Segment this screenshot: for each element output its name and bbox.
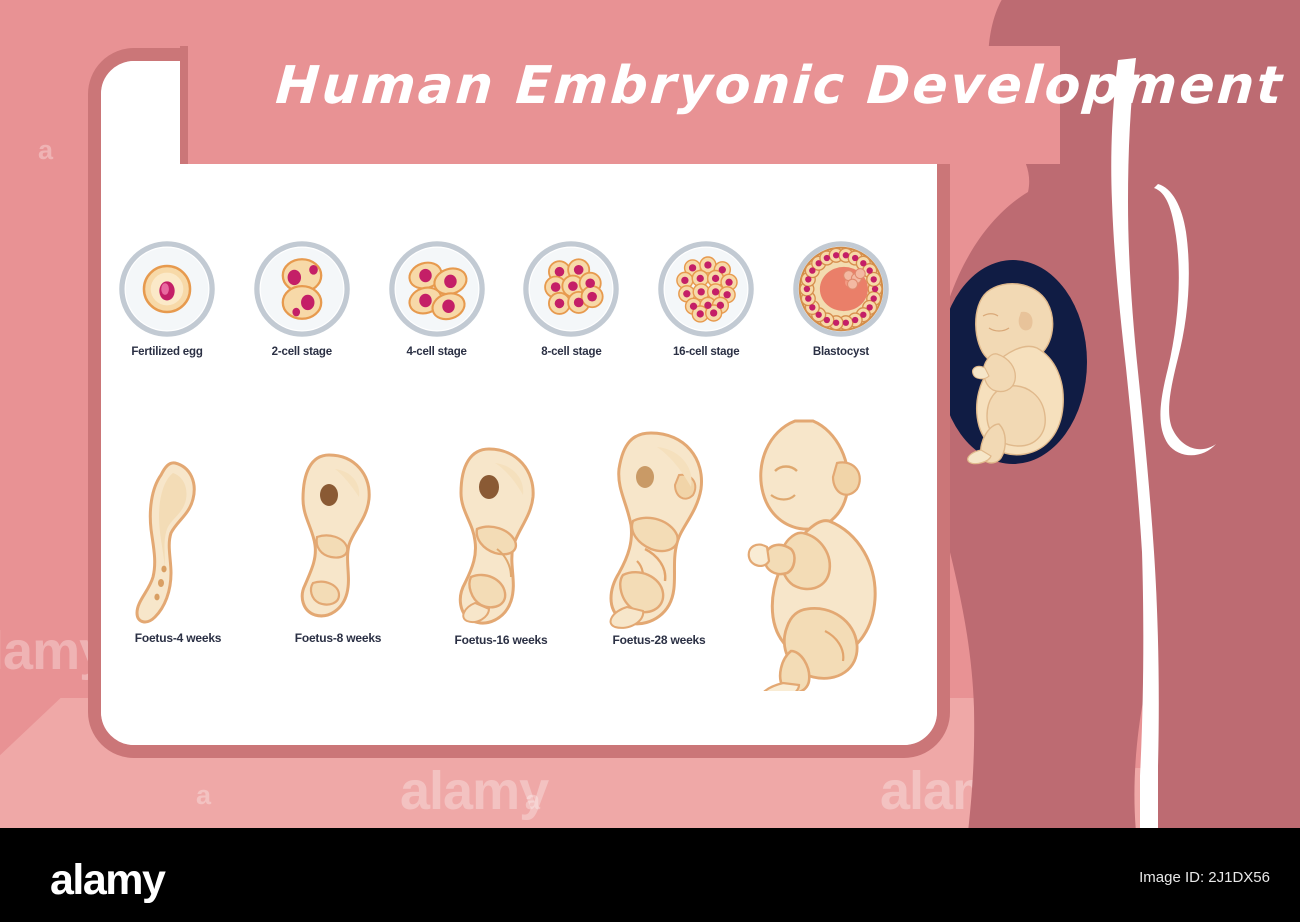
alamy-footer-bar: alamy Image ID: 2J1DX56 — [0, 828, 1300, 922]
cell-stage-label: 8-cell stage — [541, 346, 601, 358]
fetus-stage-label: Foetus-8 weeks — [295, 631, 382, 645]
fetus-stage-label: Foetus-28 weeks — [612, 633, 705, 647]
two-cell-icon — [254, 241, 350, 337]
cell-stages-row: Fertilized egg2-cell stage4-cell stage8-… — [109, 241, 899, 358]
cell-stage-label: Blastocyst — [813, 346, 869, 358]
image-id-text: Image ID: 2J1DX56 — [1139, 869, 1270, 886]
fetus-stage-label: Foetus-16 weeks — [454, 633, 547, 647]
fetus-stage-3: Foetus-28 weeks — [579, 425, 739, 647]
alamy-watermark-letter: a — [1246, 132, 1260, 163]
alamy-watermark-letter: a — [1086, 10, 1100, 41]
fetus-stage-1: Foetus-8 weeks — [273, 441, 403, 645]
eight-cell-icon — [523, 241, 619, 337]
fetus-4-weeks-icon — [123, 453, 233, 631]
baby-in-womb-art — [968, 284, 1064, 464]
title-banner-left-edge — [180, 46, 188, 164]
fetus-stages-row: Foetus-4 weeks Foetus-8 weeks — [101, 429, 937, 699]
cell-stage-1: 2-cell stage — [244, 241, 360, 358]
fetus-stage-label: Foetus-4 weeks — [135, 631, 222, 645]
cell-stage-3: 8-cell stage — [513, 241, 629, 358]
fetus-large-newborn-icon — [733, 401, 923, 691]
cell-stage-2: 4-cell stage — [379, 241, 495, 358]
fetus-8-weeks-icon — [273, 441, 403, 631]
blastocyst-icon — [793, 241, 889, 337]
alamy-watermark-text: alamy — [1215, 620, 1300, 682]
cell-stage-4: 16-cell stage — [648, 241, 764, 358]
alamy-logo: alamy — [50, 856, 164, 905]
fertilized-egg-icon — [119, 241, 215, 337]
cell-stage-label: 2-cell stage — [272, 346, 332, 358]
cell-stage-0: Fertilized egg — [109, 241, 225, 358]
fetus-large-newborn — [733, 401, 923, 691]
fetus-stage-2: Foetus-16 weeks — [431, 437, 571, 647]
alamy-watermark-letter: a — [38, 135, 52, 166]
cell-stage-label: 16-cell stage — [673, 346, 739, 358]
fetus-28-weeks-icon — [579, 425, 739, 633]
fetus-16-weeks-icon — [431, 437, 571, 633]
sixteen-cell-icon — [658, 241, 754, 337]
fetus-stage-0: Foetus-4 weeks — [123, 453, 233, 645]
four-cell-icon — [389, 241, 485, 337]
infographic-canvas: alamyalamyalamyalamyaaaaaaa — [0, 0, 1300, 828]
cell-stage-label: Fertilized egg — [131, 346, 202, 358]
content-card: Fertilized egg2-cell stage4-cell stage8-… — [88, 48, 950, 758]
cell-stage-label: 4-cell stage — [406, 346, 466, 358]
title-banner: Human Embryonic Development — [180, 46, 1060, 164]
page-title: Human Embryonic Development — [274, 56, 1078, 116]
cell-stage-5: Blastocyst — [783, 241, 899, 358]
